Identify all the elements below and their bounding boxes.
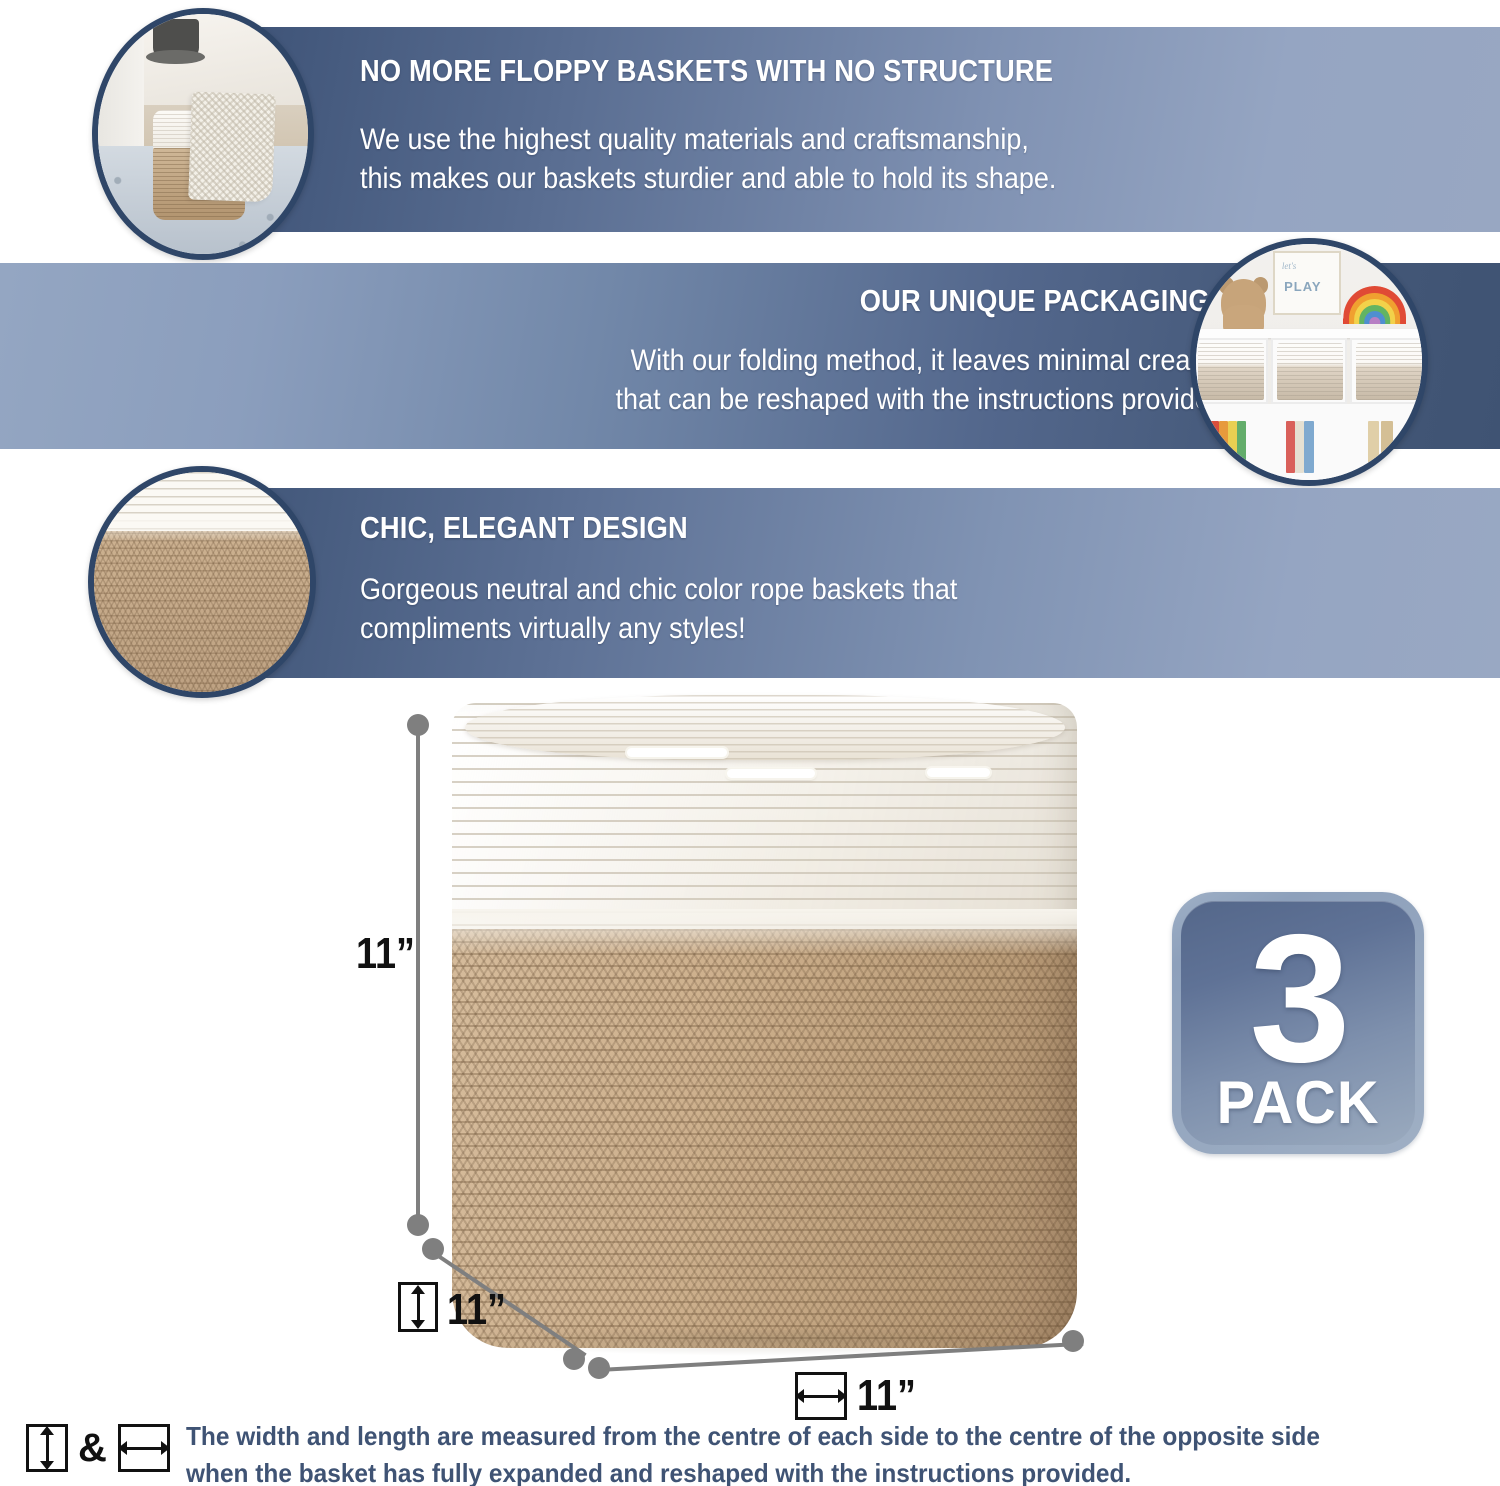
height-dim-line bbox=[416, 725, 420, 1225]
photo-book bbox=[1286, 421, 1295, 473]
feature-banner-floppy: NO MORE FLOPPY BASKETS WITH NO STRUCTURE… bbox=[155, 27, 1500, 232]
photo-book bbox=[1210, 421, 1219, 473]
basket-handle-stitch bbox=[627, 748, 727, 757]
three-pack-badge-inner: 3 PACK bbox=[1181, 901, 1415, 1145]
basket-rim bbox=[465, 695, 1065, 760]
banner-design-body-line2: compliments virtually any styles! bbox=[360, 609, 957, 648]
pack-count-number: 3 bbox=[1181, 907, 1415, 1089]
photo-rope-tan-area bbox=[94, 525, 310, 692]
three-pack-badge: 3 PACK bbox=[1172, 892, 1424, 1154]
cotton-rope-storage-basket-photo bbox=[452, 703, 1077, 1348]
horizontal-double-arrow-icon bbox=[804, 1395, 838, 1398]
rope-texture-closeup-photo bbox=[88, 466, 316, 698]
disclaimer-text-line1: The width and length are measured from t… bbox=[186, 1418, 1399, 1455]
banner-packaging-body: With our folding method, it leaves minim… bbox=[615, 341, 1232, 419]
depth-dim-icon-box bbox=[398, 1282, 438, 1332]
photo-wood-block bbox=[1368, 421, 1379, 473]
photo-book bbox=[1228, 421, 1237, 473]
banner-design-body-line1: Gorgeous neutral and chic color rope bas… bbox=[360, 570, 957, 609]
nursery-shelf-with-baskets-photo: let's PLAY bbox=[1190, 238, 1428, 486]
height-dim-dot-bottom bbox=[407, 1214, 429, 1236]
disclaimer-text-line2: when the basket has fully expanded and r… bbox=[186, 1455, 1399, 1486]
photo-frame-text-play: PLAY bbox=[1284, 279, 1321, 294]
photo-book bbox=[1295, 421, 1304, 473]
photo-waffle-blanket bbox=[189, 92, 277, 203]
basket-handle-stitch bbox=[927, 768, 990, 777]
disclaimer-text: The width and length are measured from t… bbox=[186, 1418, 1399, 1486]
banner-packaging-body-line1: With our folding method, it leaves minim… bbox=[615, 341, 1232, 380]
photo-shelf-basket-2 bbox=[1277, 343, 1343, 400]
depth-dim-label: 11” bbox=[447, 1285, 506, 1335]
vertical-double-arrow-icon bbox=[46, 1434, 49, 1462]
height-dim-label: 11” bbox=[356, 929, 415, 979]
photo-shelf-basket-3 bbox=[1356, 343, 1422, 400]
basket-with-blanket-on-rug-photo bbox=[92, 8, 314, 260]
basket-handle-stitch bbox=[727, 769, 815, 778]
banner-floppy-body: We use the highest quality materials and… bbox=[360, 120, 1056, 198]
banner-packaging-title: OUR UNIQUE PACKAGING bbox=[860, 283, 1210, 319]
banner-floppy-body-line2: this makes our baskets sturdier and able… bbox=[360, 159, 1056, 198]
banner-floppy-body-line1: We use the highest quality materials and… bbox=[360, 120, 1056, 159]
disclaimer-separator: & bbox=[78, 1426, 107, 1471]
photo-rope-colour-blend bbox=[94, 516, 310, 542]
photo-wood-block bbox=[1381, 421, 1392, 473]
banner-floppy-title: NO MORE FLOPPY BASKETS WITH NO STRUCTURE bbox=[360, 53, 1053, 89]
banner-design-body: Gorgeous neutral and chic color rope bas… bbox=[360, 570, 957, 648]
disclaimer-height-icon-box bbox=[26, 1424, 68, 1472]
banner-design-title: CHIC, ELEGANT DESIGN bbox=[360, 510, 688, 546]
banner-packaging-body-line2: that can be reshaped with the instructio… bbox=[615, 380, 1232, 419]
photo-book bbox=[1219, 421, 1228, 473]
depth-dim-dot-bottom bbox=[563, 1348, 585, 1370]
feature-banner-design: CHIC, ELEGANT DESIGN Gorgeous neutral an… bbox=[148, 488, 1500, 678]
photo-shelf-basket-1 bbox=[1198, 343, 1264, 400]
photo-frame-text-lets: let's bbox=[1282, 261, 1296, 271]
width-dim-dot-right bbox=[1062, 1330, 1084, 1352]
photo-book bbox=[1304, 421, 1313, 473]
disclaimer-width-icon-box bbox=[118, 1424, 170, 1472]
pack-word-label: PACK bbox=[1186, 1073, 1411, 1133]
basket-colour-blend bbox=[452, 909, 1077, 954]
photo-book bbox=[1237, 421, 1246, 473]
photo-shelf-top bbox=[1196, 329, 1422, 338]
product-infographic: NO MORE FLOPPY BASKETS WITH NO STRUCTURE… bbox=[0, 0, 1500, 1486]
horizontal-double-arrow-icon bbox=[127, 1447, 161, 1450]
basket-tan-woven-body bbox=[452, 929, 1077, 1348]
vertical-double-arrow-icon bbox=[417, 1293, 420, 1321]
measurement-disclaimer: & The width and length are measured from… bbox=[24, 1412, 1476, 1486]
